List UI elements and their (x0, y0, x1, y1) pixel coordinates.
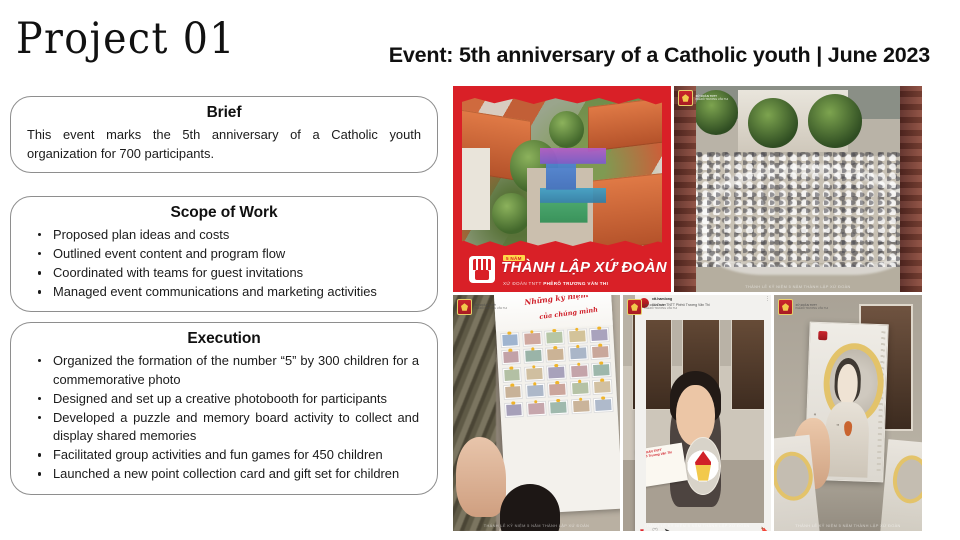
tree-shape (492, 193, 531, 234)
pinned-photo (592, 380, 613, 396)
photo-caption: THÁNH LỄ KỶ NIỆM 5 NĂM THÀNH LẬP XỨ ĐOÀN (674, 284, 922, 289)
photo-thumb (501, 334, 518, 346)
pinned-photo (544, 330, 565, 346)
poster-subline: XỨ ĐOÀN TNTT PHÊRÔ TRƯƠNG VĂN THI (503, 281, 608, 286)
poster-bottom-band: 5 NĂM THÀNH LẬP XỨ ĐOÀN XỨ ĐOÀN TNTT PHÊ… (453, 246, 671, 292)
instagram-frame-shape: xtt.hamlong Xứ Đoàn TNTT Phêrô Trương Vă… (635, 309, 771, 531)
pinned-photo (522, 331, 543, 347)
emblem-line-2: PHÊRÔ TRƯƠNG VĂN THI (696, 98, 729, 101)
pinned-photo (593, 397, 614, 413)
poster-headline: THÀNH LẬP XỨ ĐOÀN (501, 259, 667, 276)
photo-grid: 5 NĂM THÀNH LẬP XỨ ĐOÀN XỨ ĐOÀN TNTT PHÊ… (453, 86, 922, 533)
list-item: Designed and set up a creative photoboot… (51, 390, 419, 409)
pinned-photo (591, 362, 612, 378)
photo-thumb (502, 352, 519, 364)
pinned-photos-grid (499, 327, 619, 508)
photo-caption: THÁNH LỄ KỶ NIỆM 5 NĂM THÀNH LẬP XỨ ĐOÀN (623, 523, 771, 528)
pinned-photo (569, 363, 590, 379)
pinned-photo (589, 327, 610, 343)
pinned-photo (523, 348, 544, 364)
slide: Project 01 Event: 5th anniversary of a C… (0, 0, 960, 540)
stacked-card-shape (879, 440, 922, 531)
poster-subline-bold: PHÊRÔ TRƯƠNG VĂN THI (543, 281, 608, 286)
youth-group-emblem: XỨ ĐOÀN TNTT PHÊRÔ TRƯƠNG VĂN THI (627, 299, 677, 315)
brief-paragraph: This event marks the 5th anniversary of … (25, 126, 423, 163)
pinned-photo (570, 381, 591, 397)
anniversary-poster-photo: 5 NĂM THÀNH LẬP XỨ ĐOÀN XỨ ĐOÀN TNTT PHÊ… (453, 86, 671, 292)
photo-thumb (572, 383, 589, 395)
youth-group-logo-icon (817, 331, 826, 340)
photo-thumb (594, 382, 611, 394)
photo-thumb (570, 348, 587, 360)
youth-group-logo-icon (678, 90, 693, 106)
memory-board-photo: Những kỷ niệm của chúng mình (453, 295, 620, 531)
pinned-photo (567, 329, 588, 345)
photo-thumb (571, 366, 588, 378)
emblem-text: XỨ ĐOÀN TNTT PHÊRÔ TRƯƠNG VĂN THI (645, 304, 678, 311)
list-item: Launched a new point collection card and… (51, 465, 419, 484)
photo-thumb (503, 369, 520, 381)
brief-card-title: Brief (11, 97, 437, 126)
pinned-photo (525, 383, 546, 399)
photo-thumb (573, 401, 590, 413)
gift-card-photo: “ ” XỨ ĐOÀN TNTT PHÊRÔ TRƯƠNG VĂN THI TH… (774, 295, 922, 531)
wall-shape (900, 86, 922, 292)
children-formation-shape (540, 148, 605, 247)
photo-thumb (548, 367, 565, 379)
board-background: Những kỷ niệm của chúng mình (453, 295, 620, 531)
quote-mark-icon: ” (836, 424, 839, 432)
photo-thumb (526, 368, 543, 380)
brief-card: Brief This event marks the 5th anniversa… (10, 96, 438, 173)
list-item: Proposed plan ideas and costs (51, 226, 419, 245)
emblem-text: XỨ ĐOÀN TNTT PHÊRÔ TRƯƠNG VĂN THI (696, 95, 729, 102)
pinned-photo (502, 385, 523, 401)
pinned-photo (503, 402, 524, 418)
tree-shape (808, 94, 863, 148)
emblem-line-2: PHÊRÔ TRƯƠNG VĂN THI (796, 307, 829, 310)
card-background: “ ” (774, 295, 922, 531)
photo-caption: THÁNH LỄ KỶ NIỆM 5 NĂM THÀNH LẬP XỨ ĐOÀN (453, 523, 620, 528)
scope-of-work-card: Scope of Work Proposed plan ideas and co… (10, 196, 438, 312)
youth-group-logo-icon (627, 299, 642, 315)
scope-card-title: Scope of Work (11, 197, 437, 226)
pinned-photo (524, 366, 545, 382)
photo-thumb (504, 387, 521, 399)
execution-card-title: Execution (11, 323, 437, 352)
page-title: Project 01 (16, 18, 236, 61)
photo-thumb (546, 332, 563, 344)
execution-list: Organized the formation of the number “5… (25, 352, 423, 484)
execution-card-body: Organized the formation of the number “5… (11, 352, 437, 494)
scope-card-body: Proposed plan ideas and costs Outlined e… (11, 226, 437, 311)
pinned-photo (547, 382, 568, 398)
bookmark-icon: 🔖 (761, 528, 770, 531)
heart-icon: ♥ (640, 528, 644, 531)
execution-card: Execution Organized the formation of the… (10, 322, 438, 495)
pinned-photo (548, 400, 569, 416)
photo-thumb (524, 333, 541, 345)
poster-subline-prefix: XỨ ĐOÀN TNTT (503, 281, 543, 286)
photobooth-frame-photo: XỨ ĐOÀN TNTTPhêrô Trương Văn Thi xtt.ham… (623, 295, 771, 531)
youth-group-logo-icon (778, 299, 793, 315)
pinned-photo (546, 365, 567, 381)
photo-thumb (525, 351, 542, 363)
list-item: Facilitated group activities and fun gam… (51, 446, 419, 465)
photo-row-top: 5 NĂM THÀNH LẬP XỨ ĐOÀN XỨ ĐOÀN TNTT PHÊ… (453, 86, 922, 292)
pinned-photo (500, 350, 521, 366)
list-item: Managed event communications and marketi… (51, 283, 419, 302)
photo-thumb (569, 331, 586, 343)
youth-group-emblem: XỨ ĐOÀN TNTT PHÊRÔ TRƯƠNG VĂN THI (457, 299, 507, 315)
list-item: Developed a puzzle and memory board acti… (51, 409, 419, 446)
photo-thumb (595, 399, 612, 411)
halo-shape (774, 449, 815, 502)
emblem-line-2: PHÊRÔ TRƯƠNG VĂN THI (645, 307, 678, 310)
photo-thumb (549, 384, 566, 396)
emblem-text: XỨ ĐOÀN TNTT PHÊRÔ TRƯƠNG VĂN THI (796, 304, 829, 311)
crowd-dots-shape (689, 152, 907, 267)
event-title: Event: 5th anniversary of a Catholic you… (330, 43, 930, 68)
photo-thumb (591, 329, 608, 341)
more-options-icon: ⋮ (765, 298, 770, 301)
photo-thumb (592, 347, 609, 359)
emblem-line-2: PHÊRÔ TRƯƠNG VĂN THI (475, 307, 508, 310)
share-icon: ➤ (664, 528, 670, 531)
photo-row-bottom: Những kỷ niệm của chúng mình (453, 295, 922, 531)
comment-icon: ♡ (652, 528, 658, 531)
pinned-photo (501, 367, 522, 383)
photo-thumb (547, 349, 564, 361)
pinned-photo (499, 332, 520, 348)
tree-shape (748, 98, 798, 147)
wall-shape (674, 86, 696, 292)
aerial-crowd-photo: XỨ ĐOÀN TNTT PHÊRÔ TRƯƠNG VĂN THI THÁNH … (674, 86, 922, 292)
youth-group-logo-icon (469, 256, 495, 283)
photo-thumb (550, 402, 567, 414)
photo-thumb (527, 386, 544, 398)
aerial-background (674, 86, 922, 292)
list-item: Organized the formation of the number “5… (51, 352, 419, 389)
list-item: Outlined event content and program flow (51, 245, 419, 264)
photo-thumb (505, 404, 522, 416)
pinned-photo (526, 401, 547, 417)
memory-board-shape: Những kỷ niệm của chúng mình (494, 295, 620, 515)
pinned-photo (571, 398, 592, 414)
photo-caption: THÁNH LỄ KỶ NIỆM 5 NĂM THÀNH LẬP XỨ ĐOÀN (774, 523, 922, 528)
youth-group-logo-icon (457, 299, 472, 315)
pinned-photo (568, 346, 589, 362)
youth-group-emblem: XỨ ĐOÀN TNTT PHÊRÔ TRƯƠNG VĂN THI (678, 90, 728, 106)
figure-robe-shape (823, 401, 869, 477)
list-item: Coordinated with teams for guest invitat… (51, 264, 419, 283)
photo-thumb (528, 403, 545, 415)
brief-card-body: This event marks the 5th anniversary of … (11, 126, 437, 172)
roof-shape (588, 98, 666, 153)
youth-group-emblem: XỨ ĐOÀN TNTT PHÊRÔ TRƯƠNG VĂN THI (778, 299, 828, 315)
poster-top-band (453, 86, 671, 98)
pinned-photo (545, 347, 566, 363)
hand-shape (456, 437, 506, 517)
tree-shape (549, 111, 584, 148)
emblem-text: XỨ ĐOÀN TNTT PHÊRÔ TRƯƠNG VĂN THI (475, 304, 508, 311)
halo-shape (891, 454, 922, 505)
pinned-photo (590, 345, 611, 361)
scope-list: Proposed plan ideas and costs Outlined e… (25, 226, 423, 302)
photo-thumb (593, 364, 610, 376)
